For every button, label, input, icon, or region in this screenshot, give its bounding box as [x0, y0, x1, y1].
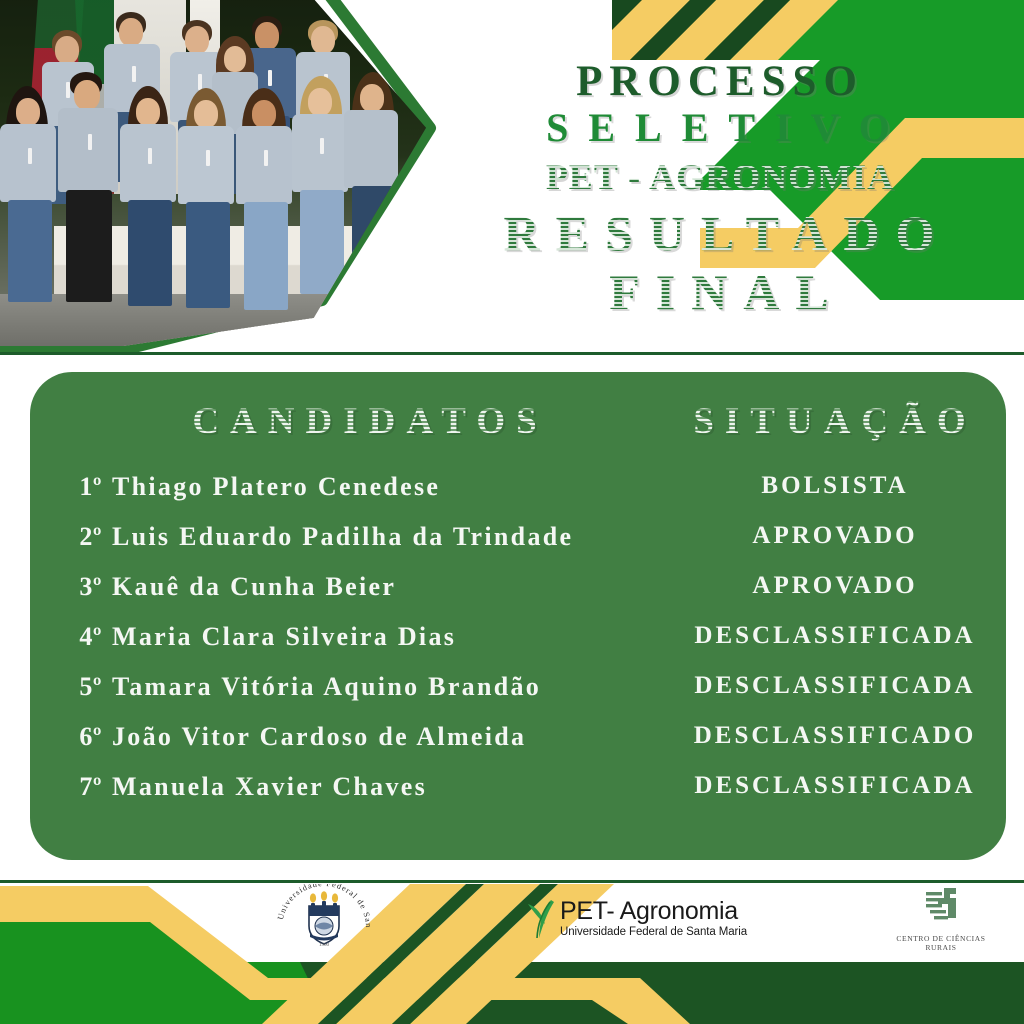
row-status: DESCLASSIFICADA: [655, 772, 1015, 800]
row-rank: 1º: [44, 472, 102, 502]
svg-text:1960: 1960: [319, 943, 330, 948]
table-row: 6ºJoão Vitor Cardoso de AlmeidaDESCLASSI…: [30, 722, 1006, 772]
title-resultado: RESULTADO: [434, 202, 1020, 265]
pet-leaf-icon: [524, 898, 558, 940]
title-processo: PROCESSO: [420, 60, 1020, 103]
table-row: 5ºTamara Vitória Aquino BrandãoDESCLASSI…: [30, 672, 1006, 722]
footer-logos: Universidade Federal de Santa Maria: [0, 884, 1024, 956]
row-status: BOLSISTA: [655, 472, 1015, 500]
row-rank: 4º: [44, 622, 102, 652]
title-seletivo: SELETIVO: [436, 103, 1020, 153]
ufsm-logo: Universidade Federal de Santa Maria: [268, 884, 380, 950]
row-rank: 7º: [44, 772, 102, 802]
divider-top: [0, 352, 1024, 355]
row-candidate-name: Luis Eduardo Padilha da Trindade: [112, 522, 573, 552]
pet-logo-title: PET- Agronomia: [560, 899, 747, 924]
row-candidate-name: Kauê da Cunha Beier: [112, 572, 396, 602]
team-photo: [0, 0, 426, 346]
title-pet-agronomia: PET - AGRONOMIA: [420, 153, 1020, 202]
results-table-body: 1ºThiago Platero CenedeseBOLSISTA2ºLuis …: [30, 472, 1006, 822]
row-rank: 2º: [44, 522, 102, 552]
row-status: DESCLASSIFICADA: [655, 622, 1015, 650]
row-rank: 6º: [44, 722, 102, 752]
row-rank: 3º: [44, 572, 102, 602]
title-final: FINAL: [434, 264, 1020, 322]
row-candidate-name: João Vitor Cardoso de Almeida: [112, 722, 526, 752]
row-candidate-name: Manuela Xavier Chaves: [112, 772, 427, 802]
pet-logo-subtitle: Universidade Federal de Santa Maria: [560, 926, 747, 939]
table-row: 1ºThiago Platero CenedeseBOLSISTA: [30, 472, 1006, 522]
table-row: 7ºManuela Xavier ChavesDESCLASSIFICADA: [30, 772, 1006, 822]
poster-root: PROCESSO SELETIVO PET - AGRONOMIA RESULT…: [0, 0, 1024, 1024]
ccr-logo: Centro de Ciências Rurais: [886, 886, 996, 948]
column-header-situation: SITUAÇÃO: [655, 400, 1015, 443]
pet-agronomia-logo: PET- Agronomia Universidade Federal de S…: [524, 896, 774, 942]
poster-titles: PROCESSO SELETIVO PET - AGRONOMIA RESULT…: [420, 60, 1020, 322]
table-row: 4ºMaria Clara Silveira DiasDESCLASSIFICA…: [30, 622, 1006, 672]
ccr-mark-icon: [886, 886, 996, 926]
table-row: 3ºKauê da Cunha BeierAPROVADO: [30, 572, 1006, 622]
row-status: DESCLASSIFICADO: [655, 722, 1015, 750]
ccr-caption: Centro de Ciências Rurais: [886, 934, 996, 952]
row-status: DESCLASSIFICADA: [655, 672, 1015, 700]
row-status: APROVADO: [655, 522, 1015, 550]
divider-bottom: [0, 880, 1024, 883]
row-status: APROVADO: [655, 572, 1015, 600]
table-row: 2ºLuis Eduardo Padilha da TrindadeAPROVA…: [30, 522, 1006, 572]
row-candidate-name: Tamara Vitória Aquino Brandão: [112, 672, 541, 702]
row-candidate-name: Maria Clara Silveira Dias: [112, 622, 456, 652]
column-header-candidates: CANDIDATOS: [160, 400, 580, 443]
row-candidate-name: Thiago Platero Cenedese: [112, 472, 440, 502]
row-rank: 5º: [44, 672, 102, 702]
results-card: CANDIDATOS SITUAÇÃO 1ºThiago Platero Cen…: [30, 372, 1006, 860]
